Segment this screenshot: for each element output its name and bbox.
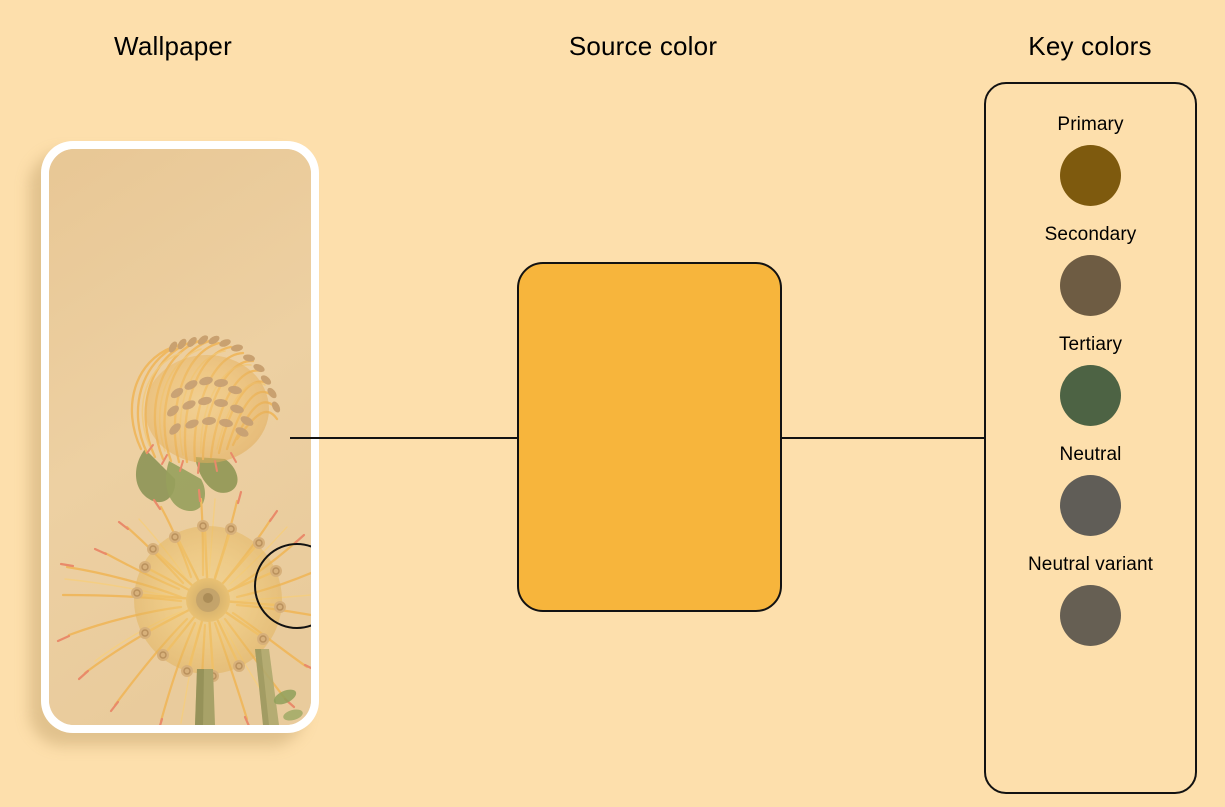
- key-color-swatch-secondary: [1060, 255, 1121, 316]
- key-color-item-secondary: Secondary: [1045, 224, 1137, 316]
- wallpaper-image: [49, 149, 311, 725]
- wallpaper-column-heading: Wallpaper: [114, 31, 232, 62]
- phone-screen: [49, 149, 311, 725]
- key-color-label-primary: Primary: [1057, 114, 1123, 136]
- color-extraction-diagram: Wallpaper Source color Key colors: [0, 0, 1225, 807]
- key-colors-panel: Primary Secondary Tertiary Neutral Neutr…: [984, 82, 1197, 794]
- key-color-label-secondary: Secondary: [1045, 224, 1137, 246]
- key-color-swatch-primary: [1060, 145, 1121, 206]
- key-color-label-neutral: Neutral: [1060, 444, 1122, 466]
- key-color-item-neutral: Neutral: [1060, 444, 1122, 536]
- key-color-swatch-neutral: [1060, 475, 1121, 536]
- key-color-item-neutral-variant: Neutral variant: [1028, 554, 1153, 646]
- key-color-item-tertiary: Tertiary: [1059, 334, 1122, 426]
- source-color-column-heading: Source color: [569, 31, 717, 62]
- key-color-label-tertiary: Tertiary: [1059, 334, 1122, 356]
- key-color-label-neutral-variant: Neutral variant: [1028, 554, 1153, 576]
- connector-line-wallpaper-to-source: [290, 437, 518, 439]
- key-color-swatch-neutral-variant: [1060, 585, 1121, 646]
- key-colors-column-heading: Key colors: [1028, 31, 1151, 62]
- key-color-swatch-tertiary: [1060, 365, 1121, 426]
- key-color-item-primary: Primary: [1057, 114, 1123, 206]
- connector-line-source-to-key-colors: [781, 437, 985, 439]
- phone-frame: [41, 141, 319, 733]
- source-color-swatch: [517, 262, 782, 612]
